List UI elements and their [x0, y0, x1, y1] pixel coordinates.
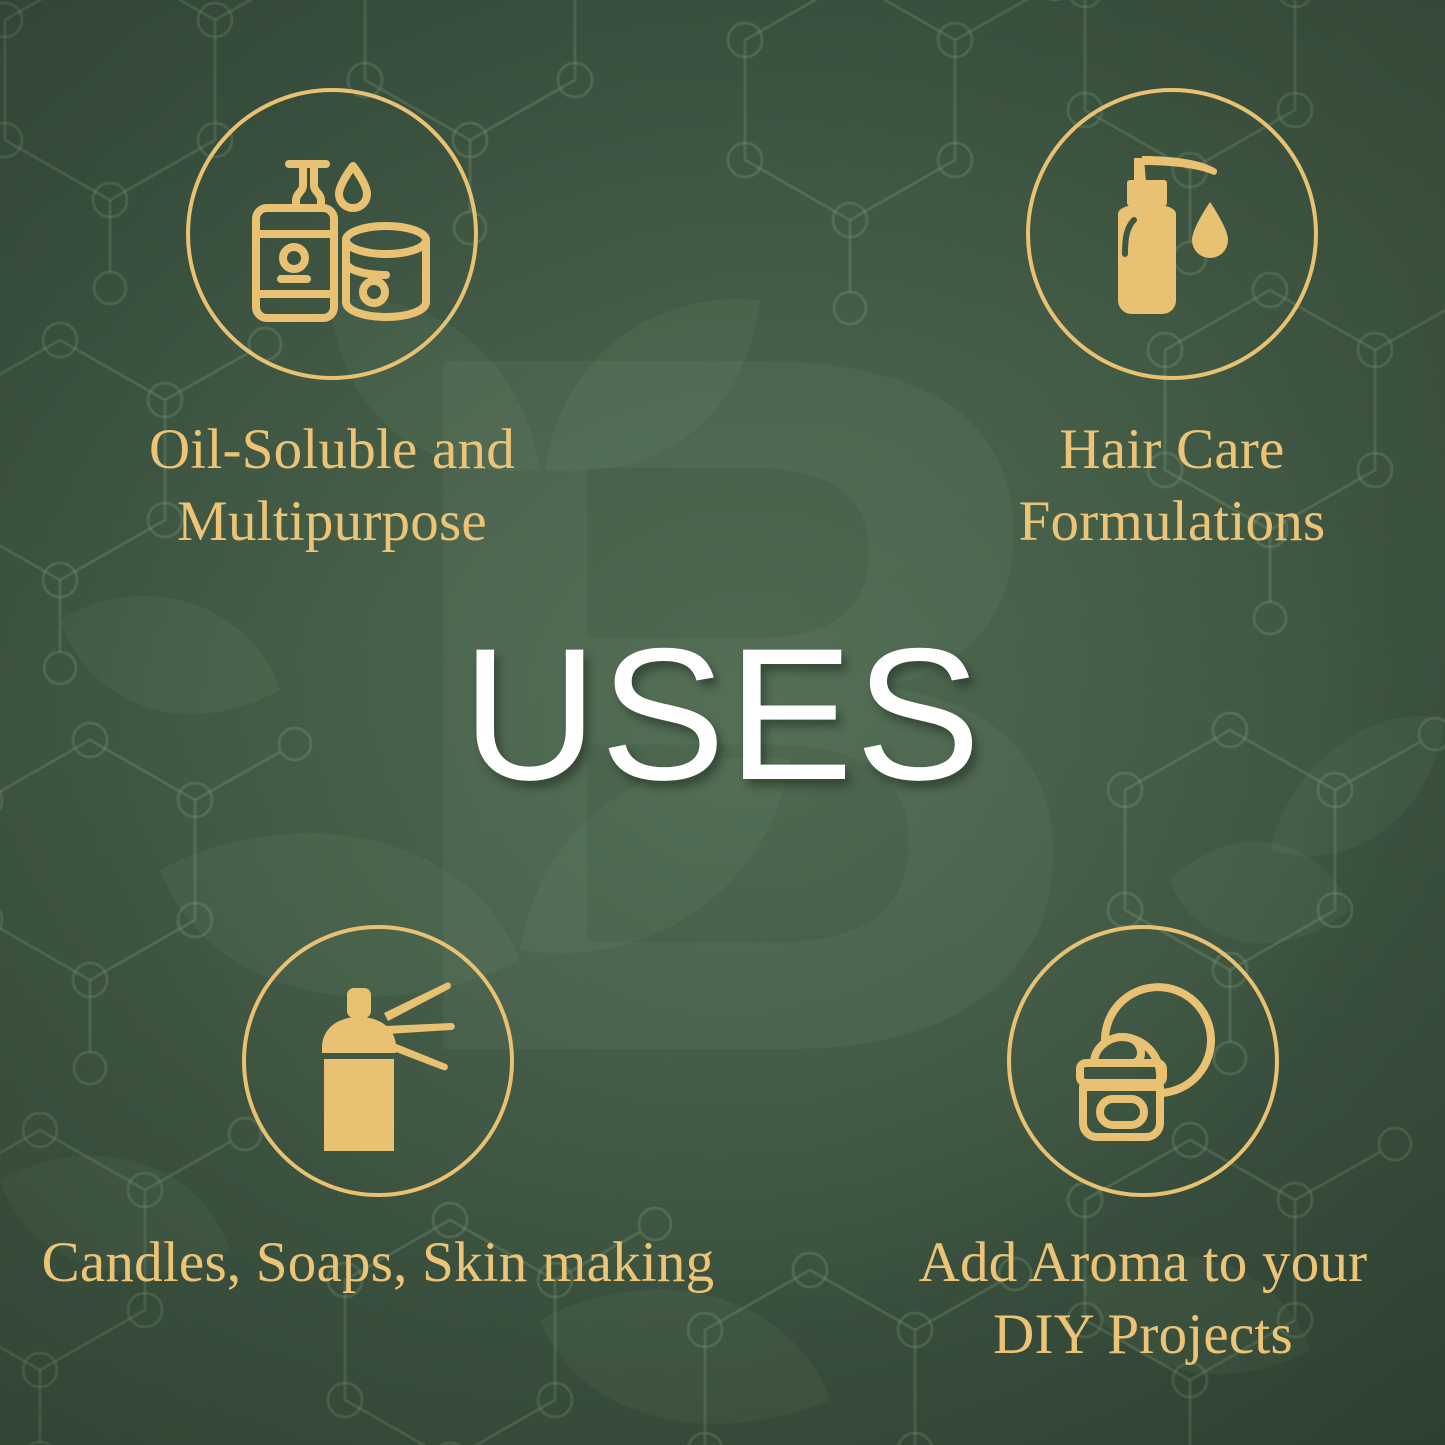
spray-can-icon [288, 971, 468, 1151]
use-label-hair-care: Hair Care Formulations [937, 414, 1407, 558]
icon-ring-bottom-left [242, 925, 514, 1197]
pump-dispenser-bottle-with-droplet-icon [1074, 136, 1270, 332]
use-item-candles-soaps: Candles, Soaps, Skin making [18, 925, 738, 1299]
use-item-hair-care: Hair Care Formulations [937, 88, 1407, 558]
cream-jar-swirl-icon [1053, 971, 1233, 1151]
icon-ring-bottom-right [1007, 925, 1279, 1197]
lotion-bottle-and-jar-icon [234, 136, 430, 332]
icon-ring-top-right [1026, 88, 1318, 380]
use-label-diy-aroma: Add Aroma to your DIY Projects [863, 1227, 1423, 1371]
use-item-diy-aroma: Add Aroma to your DIY Projects [863, 925, 1423, 1371]
poster-canvas: B [0, 0, 1445, 1445]
use-item-oil-soluble: Oil-Soluble and Multipurpose [42, 88, 622, 558]
use-label-oil-soluble: Oil-Soluble and Multipurpose [42, 414, 622, 558]
use-label-candles-soaps: Candles, Soaps, Skin making [42, 1227, 715, 1299]
icon-ring-top-left [186, 88, 478, 380]
page-title: USES [0, 620, 1445, 808]
